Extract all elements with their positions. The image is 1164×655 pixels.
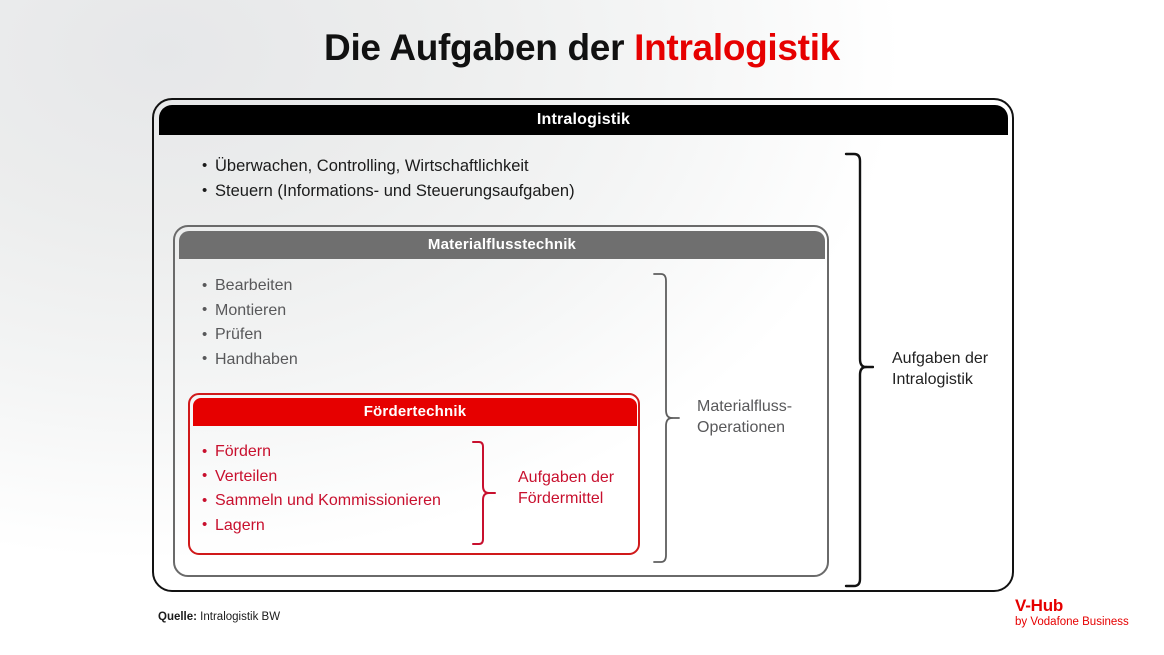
label-aufgaben-der-foerdermittel: Aufgaben der Fördermittel	[518, 467, 614, 509]
list-item: Steuern (Informations- und Steuerungsauf…	[202, 179, 862, 203]
list-foerdertechnik: Fördern Verteilen Sammeln und Kommission…	[202, 440, 502, 538]
vhub-brand-subtitle: by Vodafone Business	[1015, 615, 1129, 629]
source-note: Quelle: Intralogistik BW	[158, 611, 280, 623]
source-value: Intralogistik BW	[197, 611, 280, 623]
list-item: Überwachen, Controlling, Wirtschaftlichk…	[202, 154, 862, 178]
list-item: Sammeln und Kommissionieren	[202, 489, 502, 513]
label-line-1: Aufgaben der	[892, 348, 988, 369]
header-foerdertechnik: Fördertechnik	[193, 398, 637, 426]
label-line-1: Materialfluss-	[697, 396, 792, 417]
source-label: Quelle:	[158, 611, 197, 623]
page-title: Die Aufgaben der Intralogistik	[0, 27, 1164, 69]
label-line-2: Operationen	[697, 417, 792, 438]
list-item: Verteilen	[202, 465, 502, 489]
vhub-brand-name: V-Hub	[1015, 596, 1129, 615]
label-aufgaben-der-intralogistik: Aufgaben der Intralogistik	[892, 348, 988, 390]
label-line-1: Aufgaben der	[518, 467, 614, 488]
list-item: Fördern	[202, 440, 502, 464]
list-item: Prüfen	[202, 323, 622, 347]
list-intralogistik: Überwachen, Controlling, Wirtschaftlichk…	[202, 154, 862, 204]
brace-aufgaben-intralogistik-icon	[842, 152, 874, 588]
vhub-logo: V-Hub by Vodafone Business	[1015, 596, 1129, 629]
slide-canvas: Die Aufgaben der Intralogistik Intralogi…	[0, 0, 1164, 655]
label-line-2: Fördermittel	[518, 488, 614, 509]
header-intralogistik: Intralogistik	[159, 105, 1008, 135]
label-line-2: Intralogistik	[892, 369, 988, 390]
page-title-main: Die Aufgaben der	[324, 27, 634, 68]
list-item: Bearbeiten	[202, 274, 622, 298]
label-materialfluss-operationen: Materialfluss- Operationen	[697, 396, 792, 438]
list-materialflusstechnik: Bearbeiten Montieren Prüfen Handhaben	[202, 274, 622, 372]
list-item: Lagern	[202, 514, 502, 538]
brace-foerdermittel-icon	[470, 440, 496, 546]
header-materialflusstechnik: Materialflusstechnik	[179, 231, 825, 259]
list-item: Handhaben	[202, 348, 622, 372]
brace-materialfluss-operationen-icon	[650, 272, 680, 564]
list-item: Montieren	[202, 299, 622, 323]
page-title-accent: Intralogistik	[634, 27, 840, 68]
